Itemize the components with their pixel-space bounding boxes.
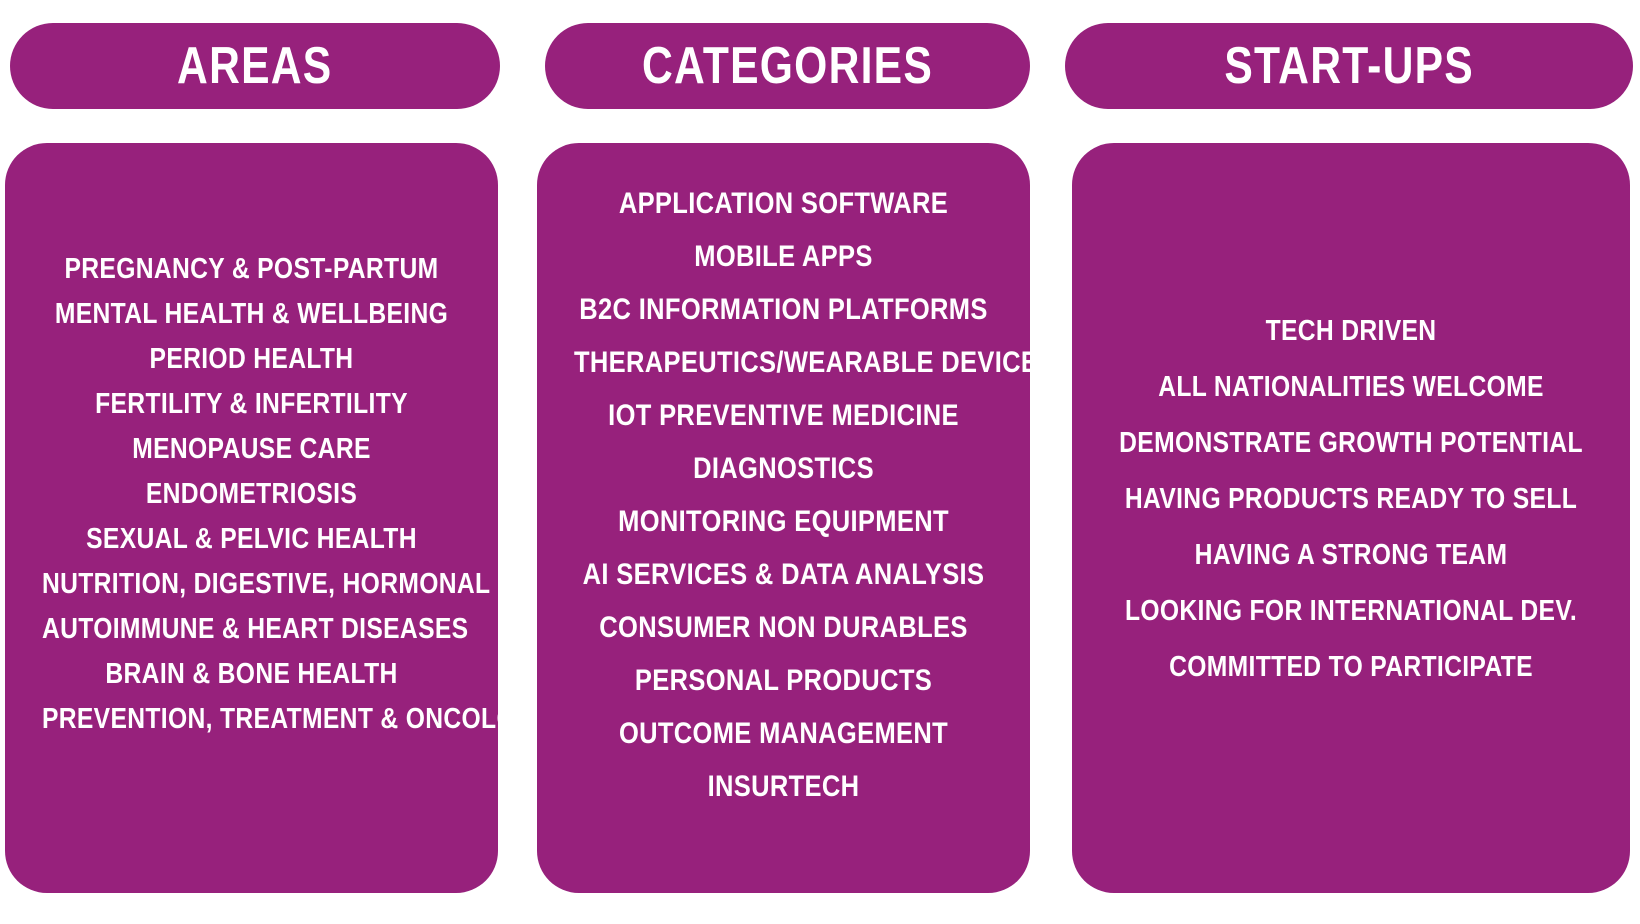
list-item: ALL NATIONALITIES WELCOME: [1114, 359, 1588, 415]
header-pill-areas: AREAS: [10, 23, 500, 109]
header-pill-startups: START-UPS: [1065, 23, 1633, 109]
list-item: MENTAL HEALTH & WELLBEING: [42, 292, 461, 337]
list-item: DEMONSTRATE GROWTH POTENTIAL: [1114, 415, 1588, 471]
body-card-startups: TECH DRIVEN ALL NATIONALITIES WELCOME DE…: [1072, 143, 1630, 893]
header-title-startups: START-UPS: [1224, 40, 1474, 92]
list-item: HAVING A STRONG TEAM: [1114, 527, 1588, 583]
list-item: APPLICATION SOFTWARE: [574, 177, 993, 230]
categories-list: APPLICATION SOFTWARE MOBILE APPS B2C INF…: [537, 177, 1030, 813]
list-item: COMMITTED TO PARTICIPATE: [1114, 639, 1588, 695]
list-item: PREVENTION, TREATMENT & ONCOLOGY: [42, 697, 461, 742]
list-item: FERTILITY & INFERTILITY: [42, 382, 461, 427]
body-card-categories: APPLICATION SOFTWARE MOBILE APPS B2C INF…: [537, 143, 1030, 893]
column-areas: AREAS PREGNANCY & POST-PARTUM MENTAL HEA…: [0, 0, 530, 924]
list-item: INSURTECH: [574, 760, 993, 813]
three-column-board: AREAS PREGNANCY & POST-PARTUM MENTAL HEA…: [0, 0, 1640, 924]
column-categories: CATEGORIES APPLICATION SOFTWARE MOBILE A…: [534, 0, 1034, 924]
startups-list: TECH DRIVEN ALL NATIONALITIES WELCOME DE…: [1072, 303, 1630, 695]
list-item: CONSUMER NON DURABLES: [574, 601, 993, 654]
list-item: HAVING PRODUCTS READY TO SELL: [1114, 471, 1588, 527]
list-item: LOOKING FOR INTERNATIONAL DEV.: [1114, 583, 1588, 639]
list-item: PERIOD HEALTH: [42, 337, 461, 382]
list-item: B2C INFORMATION PLATFORMS: [574, 283, 993, 336]
list-item: OUTCOME MANAGEMENT: [574, 707, 993, 760]
list-item: AUTOIMMUNE & HEART DISEASES: [42, 607, 461, 652]
column-startups: START-UPS TECH DRIVEN ALL NATIONALITIES …: [1062, 0, 1640, 924]
header-title-areas: AREAS: [177, 40, 332, 92]
list-item: THERAPEUTICS/WEARABLE DEVICES/HARDWARE: [574, 336, 993, 389]
list-item: ENDOMETRIOSIS: [42, 472, 461, 517]
header-pill-categories: CATEGORIES: [545, 23, 1030, 109]
list-item: MENOPAUSE CARE: [42, 427, 461, 472]
list-item: MONITORING EQUIPMENT: [574, 495, 993, 548]
list-item: MOBILE APPS: [574, 230, 993, 283]
list-item: NUTRITION, DIGESTIVE, HORMONAL HEALTH: [42, 562, 461, 607]
list-item: PREGNANCY & POST-PARTUM: [42, 247, 461, 292]
list-item: AI SERVICES & DATA ANALYSIS: [574, 548, 993, 601]
list-item: IOT PREVENTIVE MEDICINE: [574, 389, 993, 442]
areas-list: PREGNANCY & POST-PARTUM MENTAL HEALTH & …: [5, 247, 498, 742]
list-item: BRAIN & BONE HEALTH: [42, 652, 461, 697]
body-card-areas: PREGNANCY & POST-PARTUM MENTAL HEALTH & …: [5, 143, 498, 893]
list-item: TECH DRIVEN: [1114, 303, 1588, 359]
list-item: SEXUAL & PELVIC HEALTH: [42, 517, 461, 562]
list-item: PERSONAL PRODUCTS: [574, 654, 993, 707]
list-item: DIAGNOSTICS: [574, 442, 993, 495]
header-title-categories: CATEGORIES: [642, 40, 933, 92]
